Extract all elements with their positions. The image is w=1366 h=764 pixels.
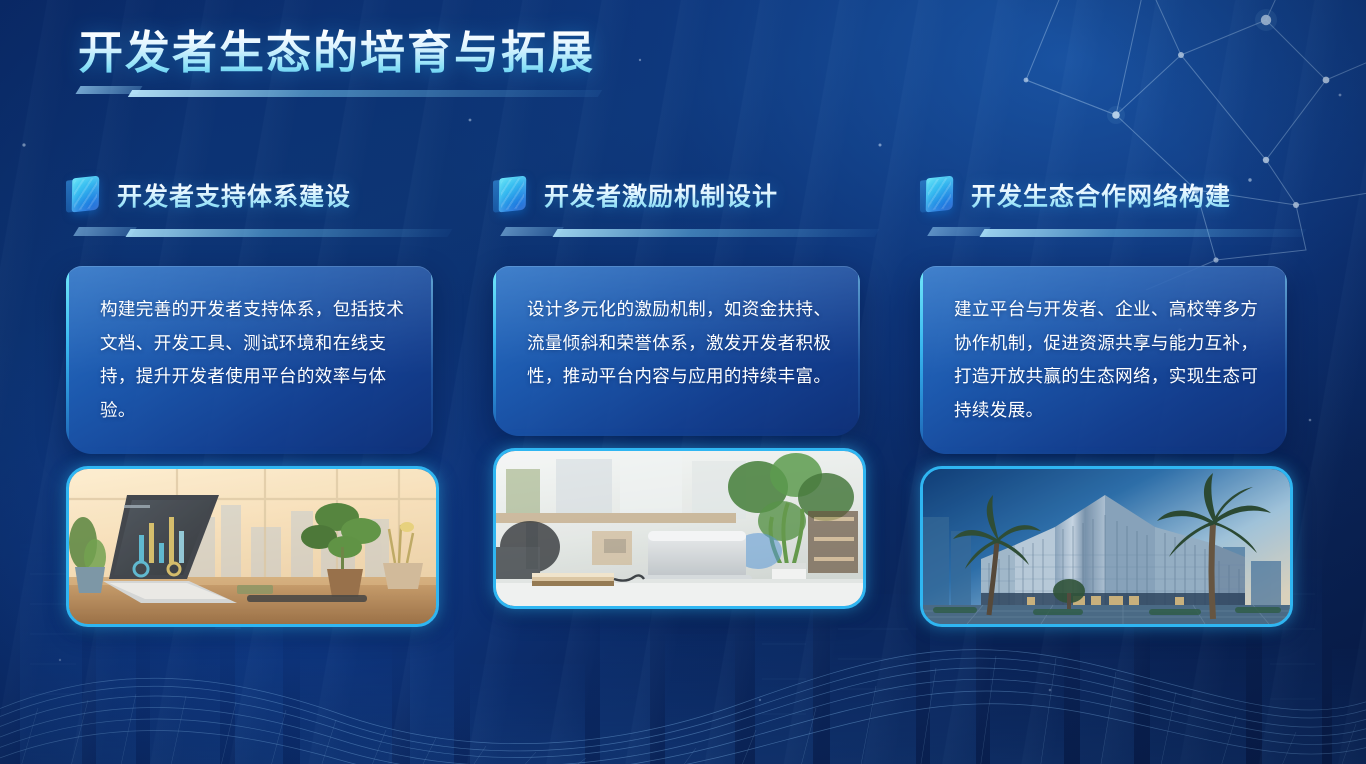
text-card-2: 设计多元化的激励机制，如资金扶持、流量倾斜和荣誉体系，激发开发者积极性，推动平台… xyxy=(493,266,860,436)
section-header-2: 开发者激励机制设计 xyxy=(493,168,877,222)
section-underline-3 xyxy=(930,226,1304,238)
title-underline-long-segment xyxy=(128,90,602,97)
content-columns: 开发者支持体系建设 构建完善的开发者支持体系，包括技术文档、开发工具、测试环境和… xyxy=(0,168,1366,638)
book-icon xyxy=(66,176,102,214)
photo-glass-office-building xyxy=(923,469,1290,624)
text-card-1: 构建完善的开发者支持体系，包括技术文档、开发工具、测试环境和在线支持，提升开发者… xyxy=(66,266,433,454)
title-underline xyxy=(78,86,598,99)
photo-3 xyxy=(920,466,1293,627)
photo-office-workspace xyxy=(496,451,863,606)
book-icon xyxy=(493,176,529,214)
card-body-3: 建立平台与开发者、企业、高校等多方协作机制，促进资源共享与能力互补，打造开放共赢… xyxy=(920,266,1287,454)
section-header-3: 开发生态合作网络构建 xyxy=(920,168,1304,222)
section-title-1: 开发者支持体系建设 xyxy=(117,177,351,213)
column-3: 开发生态合作网络构建 建立平台与开发者、企业、高校等多方协作机制，促进资源共享与… xyxy=(920,168,1304,627)
page-title: 开发者生态的培育与拓展 xyxy=(78,28,598,78)
photo-2 xyxy=(493,448,866,609)
column-2: 开发者激励机制设计 设计多元化的激励机制，如资金扶持、流量倾斜和荣誉体系，激发开… xyxy=(493,168,877,609)
card-body-2: 设计多元化的激励机制，如资金扶持、流量倾斜和荣誉体系，激发开发者积极性，推动平台… xyxy=(493,266,860,421)
section-underline-1 xyxy=(76,226,450,238)
photo-laptop-desk-window xyxy=(69,469,436,624)
page-title-block: 开发者生态的培育与拓展 xyxy=(78,28,598,99)
section-header-1: 开发者支持体系建设 xyxy=(66,168,450,222)
section-title-3: 开发生态合作网络构建 xyxy=(971,177,1231,213)
column-1: 开发者支持体系建设 构建完善的开发者支持体系，包括技术文档、开发工具、测试环境和… xyxy=(66,168,450,627)
section-underline-2 xyxy=(503,226,877,238)
book-icon xyxy=(920,176,956,214)
text-card-3: 建立平台与开发者、企业、高校等多方协作机制，促进资源共享与能力互补，打造开放共赢… xyxy=(920,266,1287,454)
photo-1 xyxy=(66,466,439,627)
card-body-1: 构建完善的开发者支持体系，包括技术文档、开发工具、测试环境和在线支持，提升开发者… xyxy=(66,266,433,454)
slide-root: 开发者生态的培育与拓展 开发者支持体系建设 构建完善的开发者支持体系，包括技术文… xyxy=(0,0,1366,764)
section-title-2: 开发者激励机制设计 xyxy=(544,177,778,213)
